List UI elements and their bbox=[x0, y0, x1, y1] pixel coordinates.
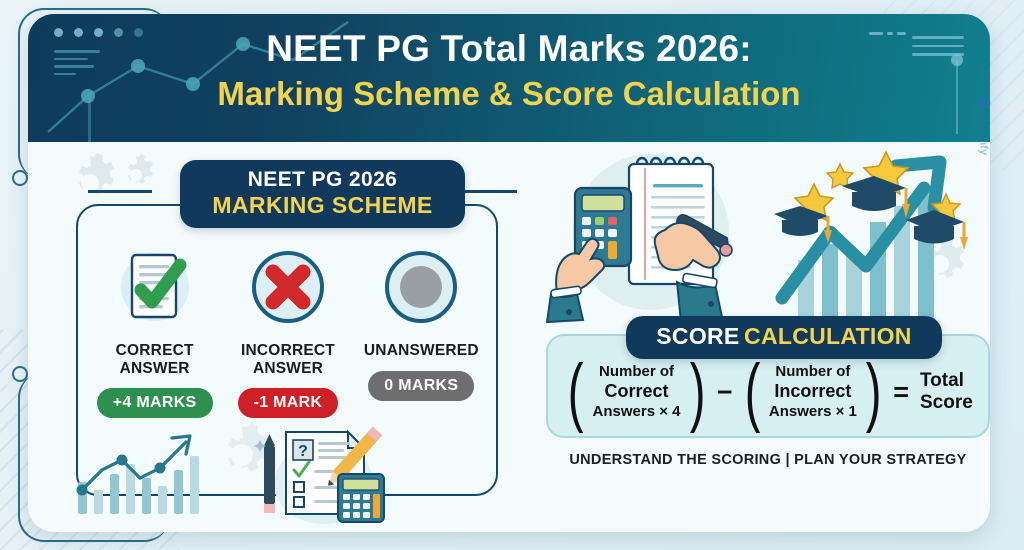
correct-label-line2: ANSWER bbox=[88, 360, 221, 378]
marking-scheme-items: CORRECT ANSWER +4 MARKS INCORRECT ANSWER bbox=[88, 244, 488, 418]
marking-scheme-badge: NEET PG 2026 MARKING SCHEME bbox=[180, 160, 465, 228]
marking-item-correct[interactable]: CORRECT ANSWER +4 MARKS bbox=[88, 244, 221, 418]
growth-arrow-bars-graduation-caps-illustration bbox=[774, 148, 990, 326]
red-cross-circle-icon bbox=[221, 244, 354, 336]
score-badge-word-white: SCORE bbox=[656, 323, 739, 349]
term1-line1: Number of bbox=[599, 363, 674, 380]
title-line-2: Marking Scheme & Score Calculation bbox=[28, 74, 990, 114]
score-badge-word-yellow: CALCULATION bbox=[744, 323, 912, 349]
page-title: NEET PG Total Marks 2026: Marking Scheme… bbox=[28, 14, 990, 114]
exam-paper-pencil-calculator-illustration: ? bbox=[252, 418, 392, 526]
title-line-1: NEET PG Total Marks 2026: bbox=[28, 28, 990, 71]
incorrect-label-line2: ANSWER bbox=[221, 360, 354, 378]
badge-connector-left bbox=[88, 190, 152, 193]
header-banner: NEET PG Total Marks 2026: Marking Scheme… bbox=[28, 14, 990, 142]
line-bar-chart-icon bbox=[68, 420, 208, 520]
infographic-body: NEET PG 2026 MARKING SCHEME bbox=[28, 142, 990, 532]
marking-scheme-badge-line1: NEET PG 2026 bbox=[180, 168, 465, 192]
term2-line2: Incorrect bbox=[774, 381, 851, 401]
unanswered-label-line1: UNANSWERED bbox=[355, 342, 488, 360]
marking-item-unanswered[interactable]: UNANSWERED 0 MARKS bbox=[355, 244, 488, 418]
score-calculation-badge: SCORE CALCULATION bbox=[626, 316, 942, 359]
correct-marks-pill: +4 MARKS bbox=[97, 388, 213, 418]
result-line1: Total bbox=[920, 370, 964, 391]
incorrect-marks-pill: -1 MARK bbox=[238, 388, 339, 418]
term2-line3: Answers × 1 bbox=[769, 403, 857, 420]
term2-line1: Number of bbox=[775, 363, 850, 380]
marking-item-unanswered-label: UNANSWERED bbox=[355, 342, 488, 360]
correct-label-line1: CORRECT bbox=[88, 342, 221, 360]
result-line2: Score bbox=[920, 392, 973, 413]
formula-equals: = bbox=[893, 377, 909, 408]
formula-term-incorrect: Number of Incorrect Answers × 1 bbox=[769, 363, 857, 422]
unanswered-marks-pill: 0 MARKS bbox=[368, 371, 474, 401]
footer-tagline: UNDERSTAND THE SCORING | PLAN YOUR STRAT… bbox=[546, 452, 990, 468]
term1-line3: Answers × 4 bbox=[593, 403, 681, 420]
gray-circle-icon bbox=[355, 244, 488, 336]
infographic-card: NEET PG Total Marks 2026: Marking Scheme… bbox=[28, 14, 990, 532]
trace-dot-lower bbox=[12, 366, 28, 382]
formula-term-correct: Number of Correct Answers × 4 bbox=[593, 363, 681, 422]
svg-text:?: ? bbox=[298, 443, 308, 460]
incorrect-label-line1: INCORRECT bbox=[221, 342, 354, 360]
marking-item-incorrect-label: INCORRECT ANSWER bbox=[221, 342, 354, 377]
marking-item-correct-label: CORRECT ANSWER bbox=[88, 342, 221, 377]
marking-item-incorrect[interactable]: INCORRECT ANSWER -1 MARK bbox=[221, 244, 354, 418]
formula-operator-minus: − bbox=[717, 377, 733, 408]
watermark-text: Medinfy bbox=[978, 114, 990, 156]
trace-dot-upper bbox=[12, 170, 28, 186]
hands-calculator-notepad-illustration bbox=[533, 146, 763, 324]
document-check-icon bbox=[88, 244, 221, 336]
term1-line2: Correct bbox=[605, 381, 669, 401]
marking-scheme-badge-line2: MARKING SCHEME bbox=[180, 192, 465, 218]
formula-result: Total Score bbox=[920, 370, 973, 414]
